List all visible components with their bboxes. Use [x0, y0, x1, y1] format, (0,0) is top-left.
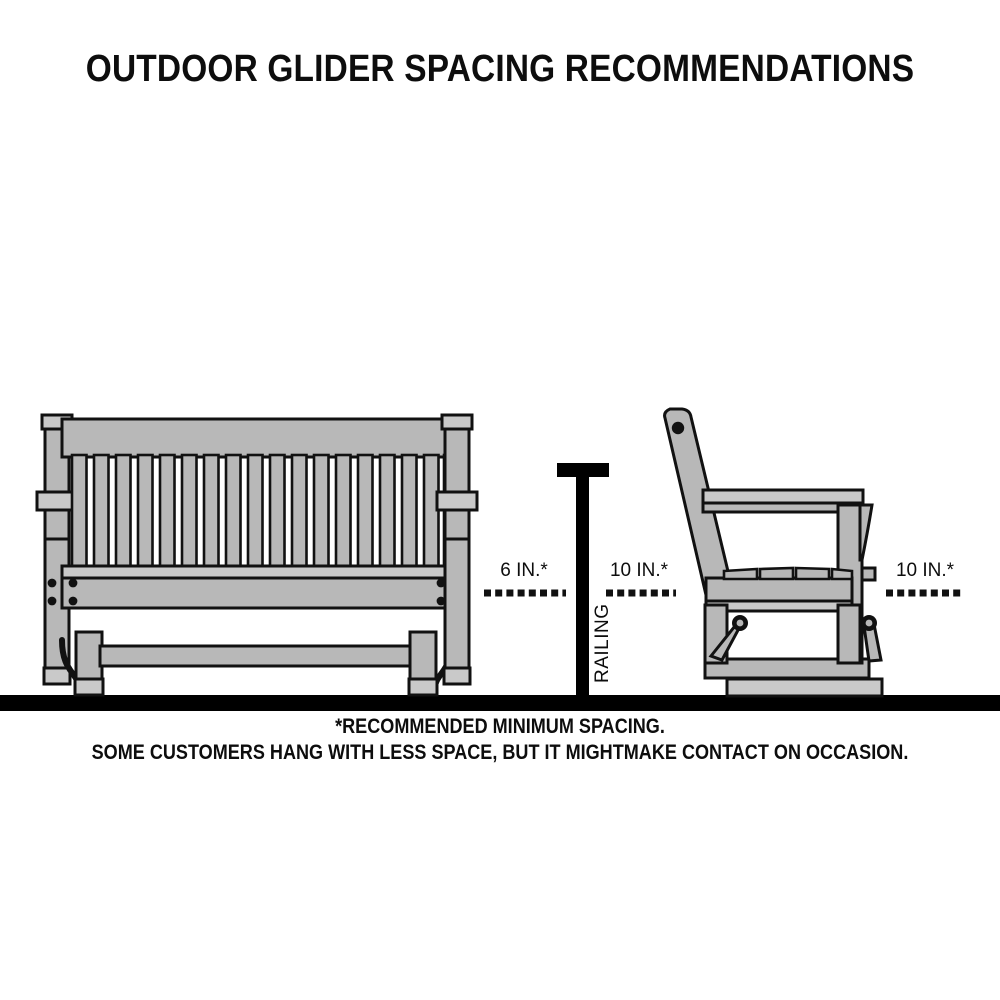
measurement-label: 10 IN.*: [896, 560, 955, 581]
seat-slat: [724, 569, 757, 579]
right-post-bracket: [437, 492, 477, 510]
side-view-front-leg-flare: [860, 505, 872, 560]
back-slat: [314, 455, 329, 580]
back-slat: [160, 455, 175, 580]
measurement-label: 10 IN.*: [610, 560, 669, 581]
bolt-dot: [48, 597, 57, 606]
side-view-armrest-underside: [703, 503, 860, 512]
back-slat: [204, 455, 219, 580]
side-view-base-skid: [727, 679, 882, 696]
back-slat: [138, 455, 153, 580]
front-view-back-slats: [72, 455, 456, 580]
seat-slat: [760, 568, 793, 579]
back-slat: [402, 455, 417, 580]
front-view-left-leg-foot: [75, 679, 103, 695]
railing-label: RAILING: [592, 603, 613, 683]
left-post-foot: [44, 668, 70, 684]
bolt-dot: [48, 579, 57, 588]
glider-spacing-diagram: .wd { fill:#b8b8b8; stroke:#111111; stro…: [0, 0, 1000, 1000]
back-post-top-bolt: [672, 422, 684, 434]
rear-swing-pivot-center: [737, 620, 744, 627]
front-view-right-leg-foot: [409, 679, 437, 695]
front-view-top-rail: [62, 419, 452, 457]
back-slat: [424, 455, 439, 580]
side-view-front-swing-arm: [861, 615, 881, 661]
measurement-label: 6 IN.*: [500, 560, 548, 581]
measurement-6in: 6 IN.*: [484, 560, 566, 593]
diagram-page: OUTDOOR GLIDER SPACING RECOMMENDATIONS .…: [0, 0, 1000, 1000]
seat-slat: [796, 568, 829, 579]
measurement-10in-railing: 10 IN.*: [606, 560, 676, 593]
back-slat: [270, 455, 285, 580]
right-post-upper: [445, 429, 469, 539]
bolt-dot: [69, 579, 78, 588]
side-view-arm-bracket: [862, 568, 875, 580]
right-post-foot: [444, 668, 470, 684]
back-slat: [182, 455, 197, 580]
back-slat: [248, 455, 263, 580]
footnote-block: *RECOMMENDED MINIMUM SPACING. SOME CUSTO…: [0, 714, 1000, 766]
back-slat: [72, 455, 87, 580]
right-post-lower: [445, 539, 469, 682]
glider-side-view: [665, 409, 882, 696]
railing-post: [576, 463, 589, 703]
side-view-seat-slats: [724, 568, 852, 579]
bolt-dot: [69, 597, 78, 606]
footnote-line-2: SOME CUSTOMERS HANG WITH LESS SPACE, BUT…: [70, 740, 930, 766]
back-slat: [336, 455, 351, 580]
right-post-cap: [442, 415, 472, 429]
back-slat: [380, 455, 395, 580]
front-swing-pivot-center: [866, 620, 873, 627]
back-slat: [116, 455, 131, 580]
measurement-10in-next: 10 IN.*: [886, 560, 962, 593]
footnote-line-1: *RECOMMENDED MINIMUM SPACING.: [70, 714, 930, 740]
back-slat: [358, 455, 373, 580]
back-slat: [94, 455, 109, 580]
front-view-bottom-stretcher: [100, 646, 412, 666]
seat-slat: [832, 569, 852, 579]
back-slat: [292, 455, 307, 580]
side-view-front-frame-post: [838, 605, 860, 663]
back-slat: [226, 455, 241, 580]
glider-front-view: [37, 415, 477, 695]
front-view-apron-rail: [62, 578, 452, 608]
